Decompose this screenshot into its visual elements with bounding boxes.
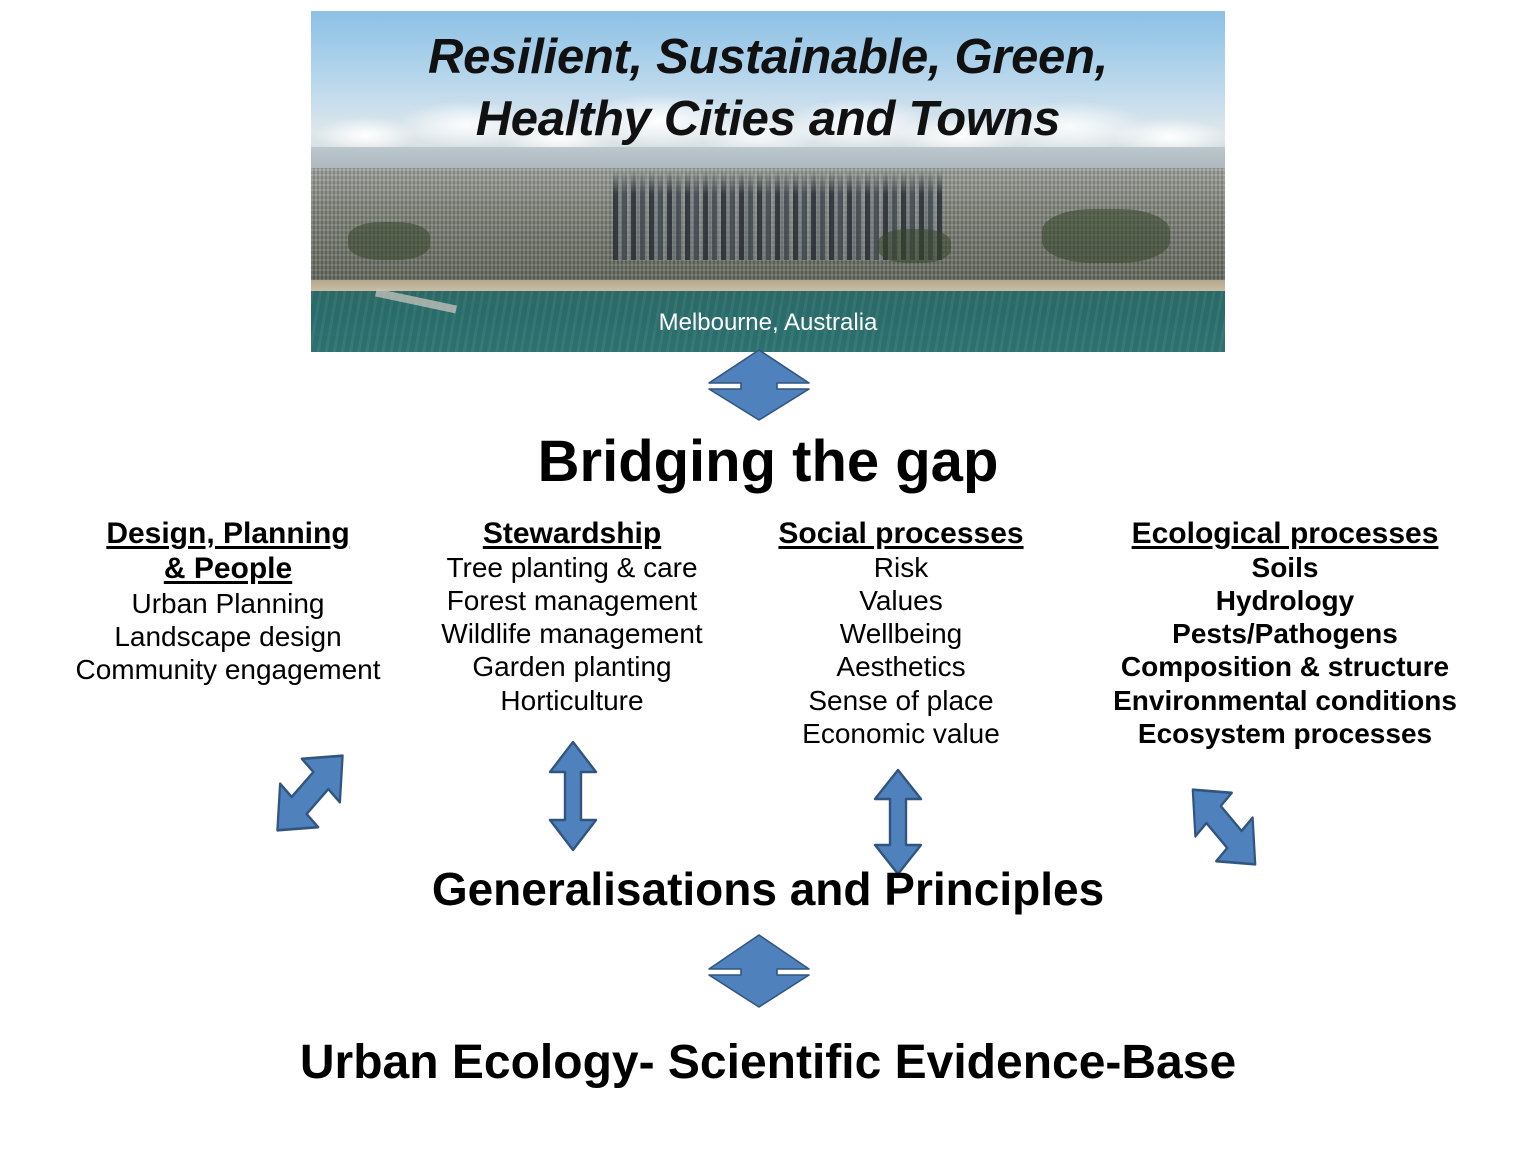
section-title-urban-ecology-evidence-base: Urban Ecology- Scientific Evidence-Base bbox=[0, 1035, 1536, 1090]
column-item: Landscape design bbox=[58, 620, 398, 653]
hero-caption: Melbourne, Australia bbox=[311, 309, 1225, 337]
column-item: Environmental conditions bbox=[1062, 684, 1508, 717]
column-item: Pests/Pathogens bbox=[1062, 617, 1508, 650]
column-item: Composition & structure bbox=[1062, 650, 1508, 683]
double-arrow-vertical-diamond-icon bbox=[709, 935, 809, 1007]
column-heading: Stewardship bbox=[410, 516, 734, 551]
double-arrow-diagonal-nwse-icon bbox=[262, 738, 358, 848]
column-item: Urban Planning bbox=[58, 587, 398, 620]
park-patch-mid bbox=[878, 229, 951, 263]
column-heading: Social processes bbox=[756, 516, 1046, 551]
double-arrow-vertical-icon bbox=[872, 768, 924, 876]
column-item: Values bbox=[756, 584, 1046, 617]
column-item: Sense of place bbox=[756, 684, 1046, 717]
column-item: Horticulture bbox=[410, 684, 734, 717]
column-item: Economic value bbox=[756, 717, 1046, 750]
double-arrow-vertical-icon bbox=[547, 740, 599, 852]
hero-title: Resilient, Sustainable, Green, Healthy C… bbox=[311, 27, 1225, 150]
column-heading: Design, Planning & People bbox=[58, 516, 398, 587]
section-title-generalisations-and-principles: Generalisations and Principles bbox=[0, 862, 1536, 916]
column-item: Forest management bbox=[410, 584, 734, 617]
column-item: Garden planting bbox=[410, 650, 734, 683]
column-design-planning-people: Design, Planning & People Urban Planning… bbox=[58, 516, 398, 686]
column-social-processes: Social processes Risk Values Wellbeing A… bbox=[756, 516, 1046, 750]
column-stewardship: Stewardship Tree planting & care Forest … bbox=[410, 516, 734, 717]
column-heading: Ecological processes bbox=[1062, 516, 1508, 551]
column-item: Hydrology bbox=[1062, 584, 1508, 617]
column-item: Wildlife management bbox=[410, 617, 734, 650]
column-item: Risk bbox=[756, 551, 1046, 584]
page-title-bridging-the-gap: Bridging the gap bbox=[0, 428, 1536, 495]
park-patch-left bbox=[348, 222, 430, 260]
column-item: Tree planting & care bbox=[410, 551, 734, 584]
park-patch-right bbox=[1042, 209, 1170, 264]
column-item: Aesthetics bbox=[756, 650, 1046, 683]
column-item: Ecosystem processes bbox=[1062, 717, 1508, 750]
melbourne-hero-image: Resilient, Sustainable, Green, Healthy C… bbox=[311, 11, 1225, 352]
column-item: Community engagement bbox=[58, 653, 398, 686]
column-item: Wellbeing bbox=[756, 617, 1046, 650]
column-item: Soils bbox=[1062, 551, 1508, 584]
double-arrow-vertical-diamond-icon bbox=[709, 350, 809, 420]
column-ecological-processes: Ecological processes Soils Hydrology Pes… bbox=[1062, 516, 1508, 750]
